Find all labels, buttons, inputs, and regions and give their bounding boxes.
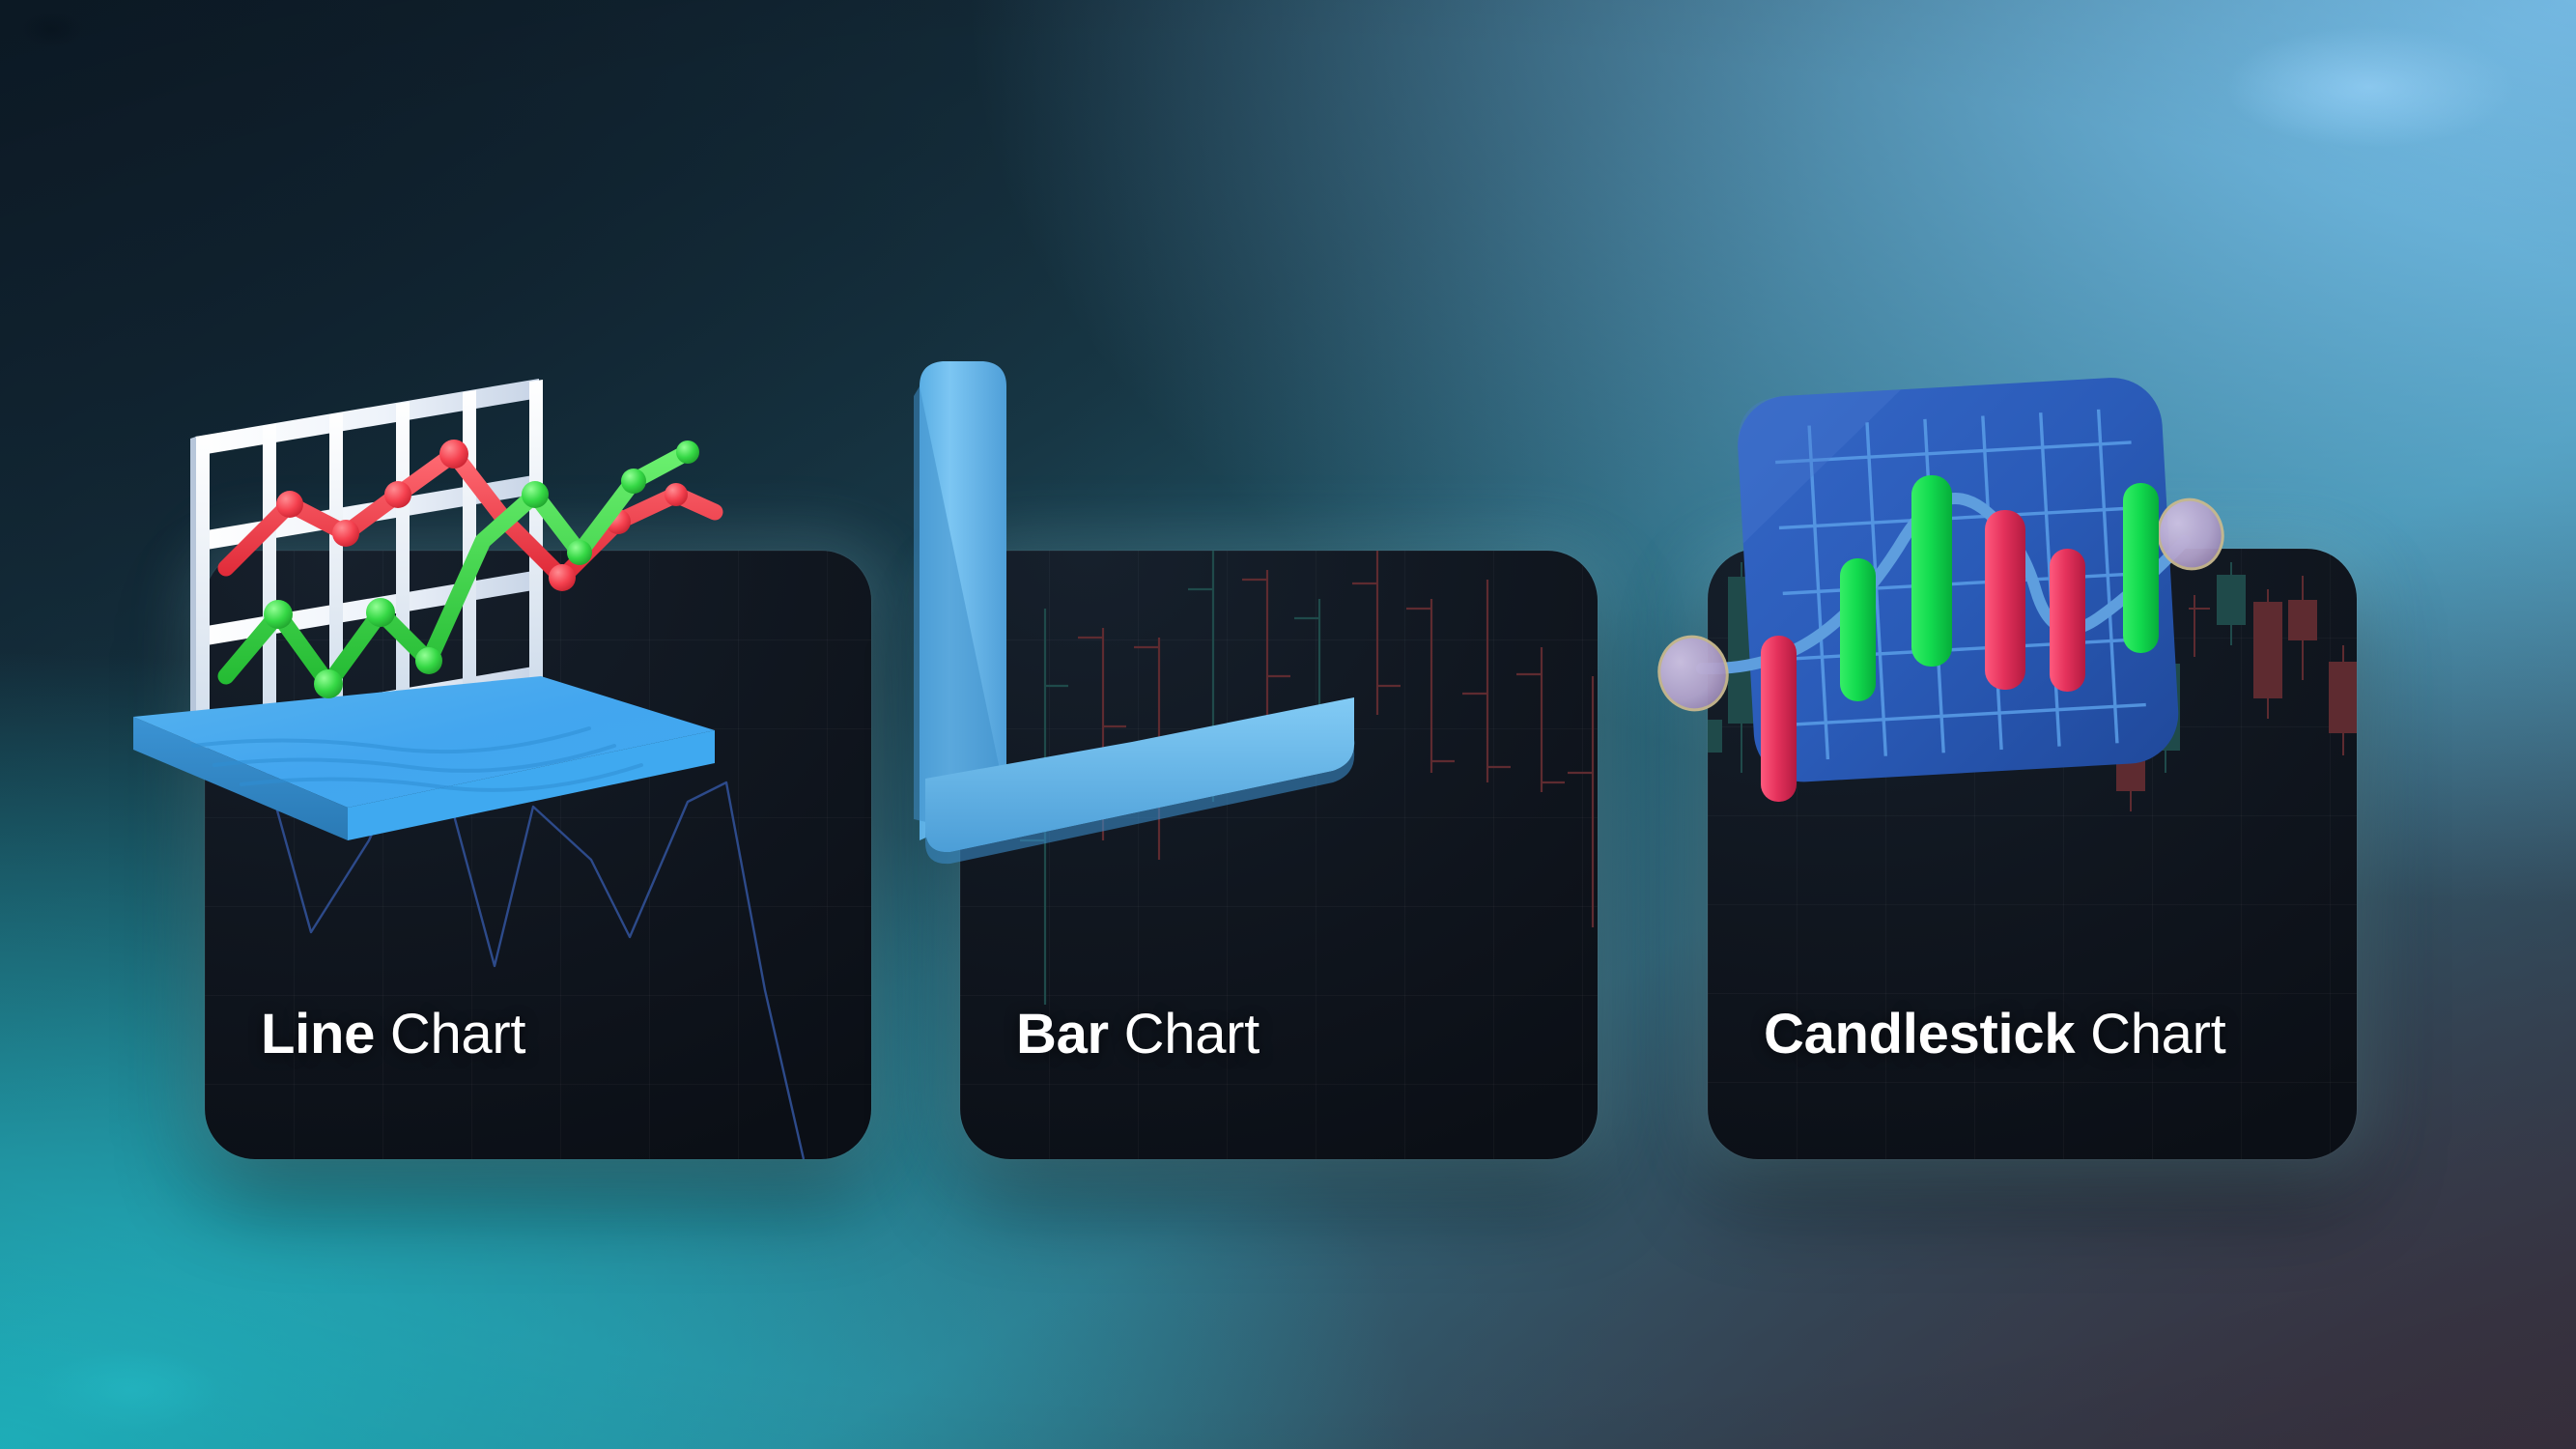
card-label-strong: Bar bbox=[1016, 1003, 1109, 1065]
card-label-bar: Bar Chart bbox=[1016, 1002, 1260, 1066]
card-label-light: Chart bbox=[2090, 1003, 2225, 1065]
card-candlestick-chart[interactable]: Candlestick Chart bbox=[1708, 549, 2357, 1159]
card-row: Line Chart Bar Chart bbox=[0, 0, 2576, 1449]
bar-card-backdrop-art bbox=[960, 551, 1598, 1159]
card-label-light: Chart bbox=[1124, 1003, 1260, 1065]
card-label-strong: Candlestick bbox=[1764, 1003, 2075, 1065]
card-label-light: Chart bbox=[390, 1003, 525, 1065]
card-label-candlestick: Candlestick Chart bbox=[1764, 1002, 2225, 1066]
card-label-line: Line Chart bbox=[261, 1002, 525, 1066]
card-bar-chart[interactable]: Bar Chart bbox=[960, 551, 1598, 1159]
card-label-strong: Line bbox=[261, 1003, 375, 1065]
card-line-chart[interactable]: Line Chart bbox=[205, 551, 871, 1159]
candlestick-card-backdrop-art bbox=[1708, 549, 2357, 1159]
line-card-backdrop-art bbox=[205, 551, 871, 1159]
